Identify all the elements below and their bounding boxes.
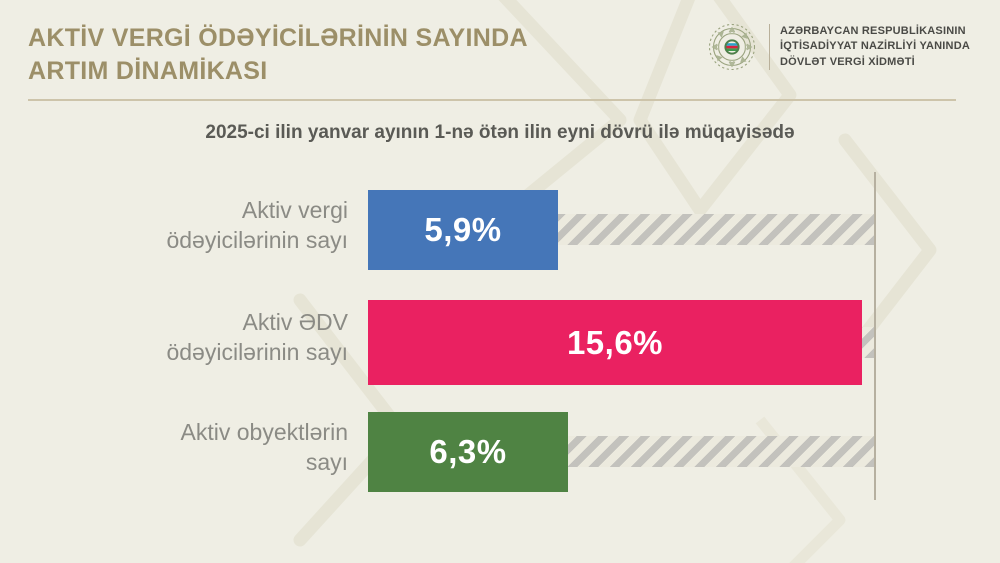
bar-active-vat-payers: 15,6%	[368, 300, 862, 385]
azerbaijan-state-tax-service-emblem	[705, 20, 759, 74]
chart-subtitle: 2025-ci ilin yanvar ayının 1-nə ötən ili…	[0, 122, 1000, 144]
organization-logo: AZƏRBAYCAN RESPUBLİKASININ İQTİSADİYYAT …	[705, 20, 970, 74]
bar-value-active-vat-payers: 15,6%	[567, 324, 663, 362]
chart-row-active-vat-payers: Aktiv ƏDV ödəyicilərinin sayı 15,6%	[0, 300, 1000, 385]
bar-label-active-vat-payers: Aktiv ƏDV ödəyicilərinin sayı	[60, 308, 348, 368]
infographic-canvas: AKTİV VERGİ ÖDƏYİCİLƏRİNİN SAYINDA ARTIM…	[0, 0, 1000, 563]
bar-active-taxpayers: 5,9%	[368, 190, 558, 270]
title-divider	[28, 99, 956, 101]
chart-row-active-objects: Aktiv obyektlərin sayı 6,3%	[0, 412, 1000, 492]
header: AKTİV VERGİ ÖDƏYİCİLƏRİNİN SAYINDA ARTIM…	[0, 0, 1000, 110]
organization-name: AZƏRBAYCAN RESPUBLİKASININ İQTİSADİYYAT …	[780, 24, 970, 71]
bar-label-active-taxpayers: Aktiv vergi ödəyicilərinin sayı	[60, 196, 348, 256]
bar-label-active-objects: Aktiv obyektlərin sayı	[60, 418, 348, 478]
logo-divider	[769, 24, 770, 70]
chart-row-active-taxpayers: Aktiv vergi ödəyicilərinin sayı 5,9%	[0, 190, 1000, 270]
page-title: AKTİV VERGİ ÖDƏYİCİLƏRİNİN SAYINDA ARTIM…	[28, 22, 668, 87]
bar-active-objects: 6,3%	[368, 412, 568, 492]
bar-value-active-taxpayers: 5,9%	[424, 211, 501, 249]
bar-value-active-objects: 6,3%	[429, 433, 506, 471]
